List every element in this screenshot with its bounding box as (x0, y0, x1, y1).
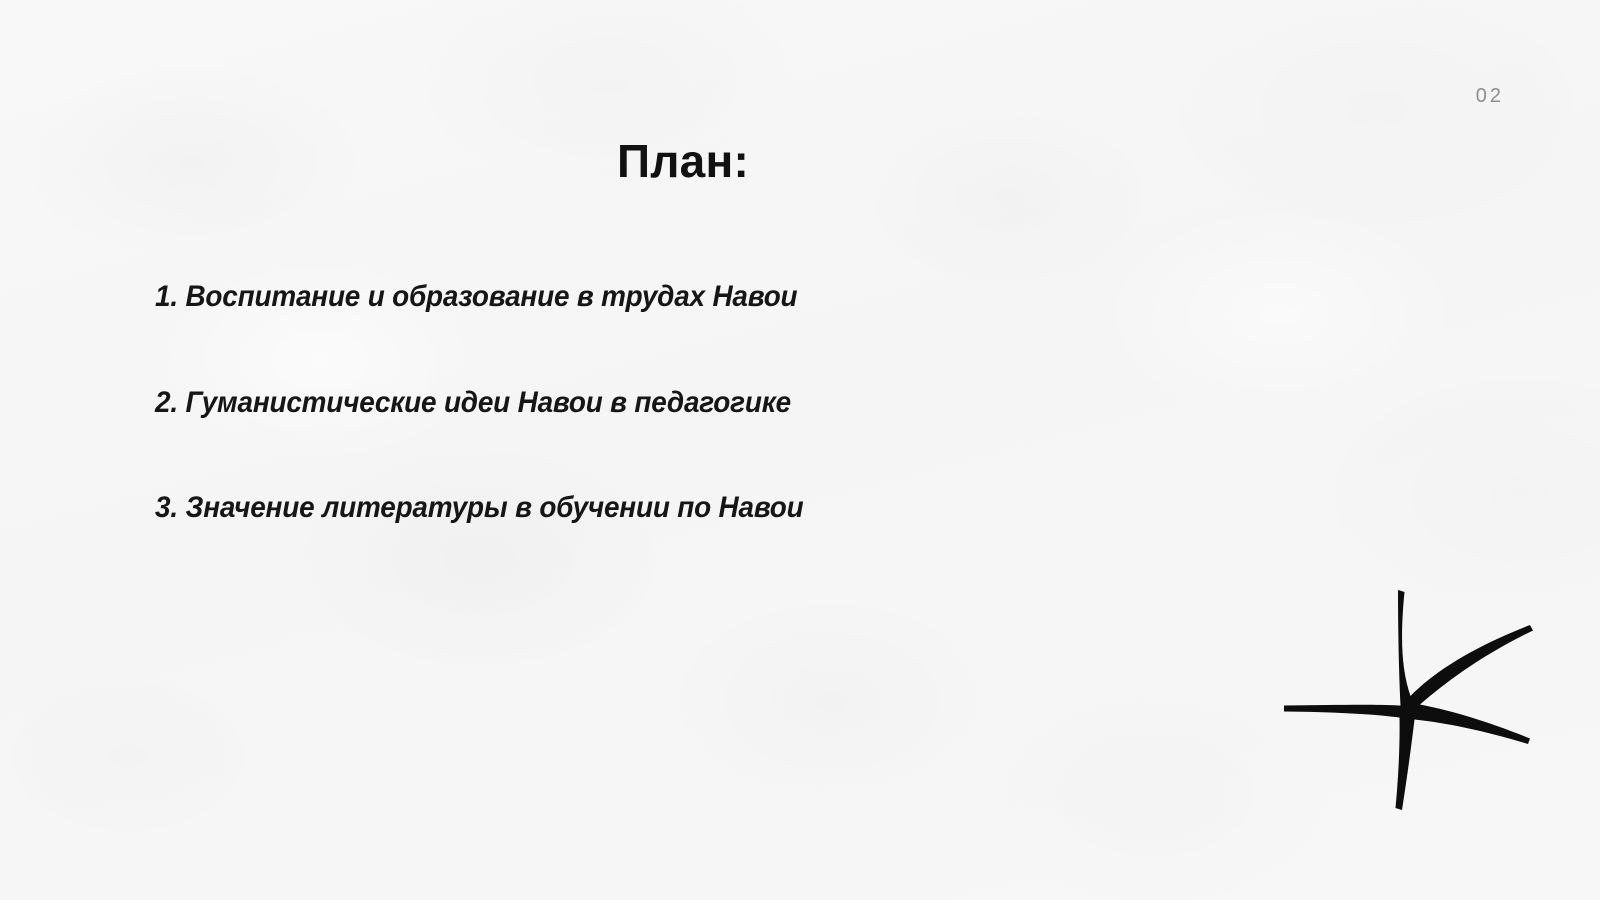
presentation-slide: 02 План: 1. Воспитание и образование в т… (0, 0, 1600, 900)
page-title: План: (617, 136, 749, 187)
list-item: 2. Гуманистические идеи Навои в педагоги… (155, 384, 1085, 422)
agenda-list: 1. Воспитание и образование в трудах Нав… (155, 278, 1155, 527)
list-item: 1. Воспитание и образование в трудах Нав… (155, 278, 1085, 316)
sparkle-star-shape (1284, 590, 1533, 810)
page-number: 02 (1476, 86, 1504, 106)
list-item: 3. Значение литературы в обучении по Нав… (155, 489, 1085, 527)
sparkle-star-icon (1268, 578, 1553, 823)
